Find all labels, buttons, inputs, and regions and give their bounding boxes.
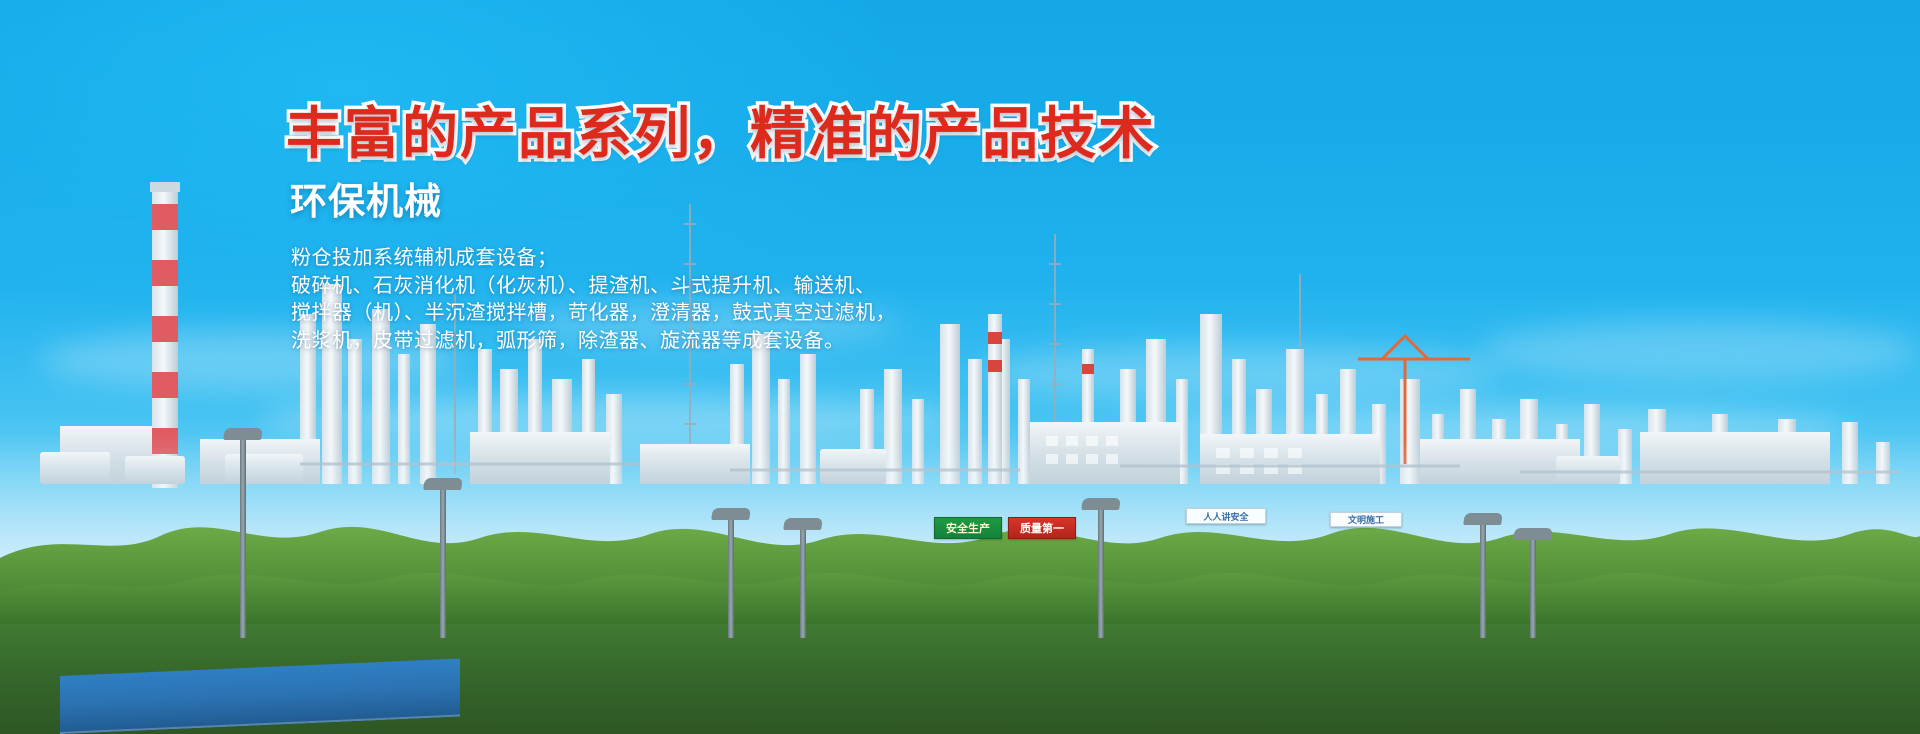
site-sign: 人人讲安全	[1186, 508, 1266, 524]
banner-copy: 丰富的产品系列，精准的产品技术 环保机械 粉仓投加系统辅机成套设备； 破碎机、石…	[286, 104, 1226, 355]
description-line: 粉仓投加系统辅机成套设备；	[291, 244, 1226, 272]
description-line: 破碎机、石灰消化机（化灰机）、提渣机、斗式提升机、输送机、	[291, 272, 1226, 300]
description-line: 洗浆机，皮带过滤机，弧形筛，除渣器、旋流器等成套设备。	[291, 327, 1226, 355]
lamp-post	[800, 528, 806, 638]
site-sign: 文明施工	[1330, 512, 1402, 527]
hero-banner: 安全生产 质量第一 安全是职工的生命线 人人讲安全 文明施工 丰富的产品系列，精…	[0, 0, 1920, 734]
subtitle: 环保机械	[290, 182, 1226, 223]
lamp-post	[1480, 523, 1486, 638]
lamp-post	[1530, 538, 1536, 638]
lamp-post	[728, 518, 734, 638]
lamp-post	[240, 438, 246, 638]
description-line: 搅拌器（机）、半沉渣搅拌槽，苛化器，澄清器，鼓式真空过滤机，	[291, 299, 1226, 327]
lamp-post	[440, 488, 446, 638]
description-text: 粉仓投加系统辅机成套设备； 破碎机、石灰消化机（化灰机）、提渣机、斗式提升机、输…	[291, 244, 1226, 354]
page-title: 丰富的产品系列，精准的产品技术	[286, 104, 1226, 166]
lamp-post	[1098, 508, 1104, 638]
